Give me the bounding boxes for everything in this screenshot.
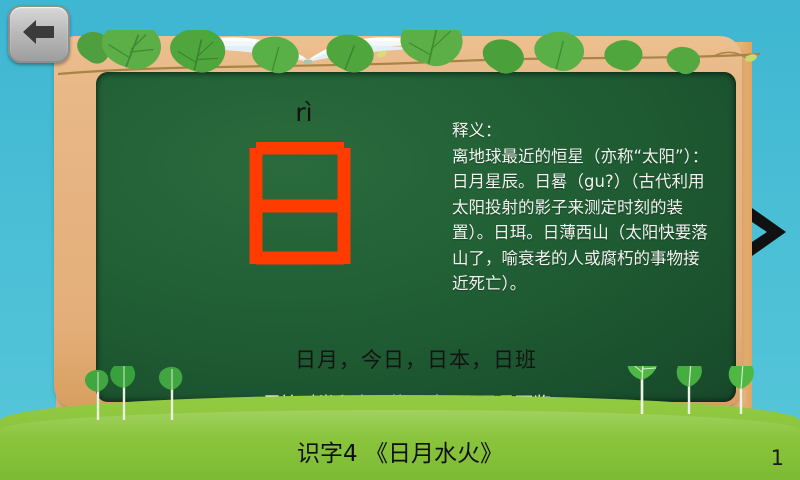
lesson-title: 识字4 《日月水火》 <box>0 434 800 468</box>
open-book-decoration <box>186 20 430 64</box>
chalkboard-surface: rì 释义：离地球最近的恒星（亦称“太阳”）：日月星辰。日晷（ <box>96 72 736 402</box>
page-number: 1 <box>771 446 784 470</box>
board-frame: rì 释义：离地球最近的恒星（亦称“太阳”）：日月星辰。日晷（ <box>54 36 742 408</box>
definition-heading: 释义： <box>452 121 502 140</box>
definition-body: 离地球最近的恒星（亦称“太阳”）：日月星辰。日晷（gu?）（古代利用太阳投射的影… <box>452 147 708 294</box>
arrow-left-icon <box>21 17 57 52</box>
lesson-screen: rì 释义：离地球最近的恒星（亦称“太阳”）：日月星辰。日晷（ <box>0 0 800 480</box>
word-examples: 日月，今日，日本，日班 <box>96 344 736 374</box>
chalkboard-assembly: rì 释义：离地球最近的恒星（亦称“太阳”）：日月星辰。日晷（ <box>36 22 748 418</box>
definition-block: 释义：离地球最近的恒星（亦称“太阳”）：日月星辰。日晷（gu?）（古代利用太阳投… <box>452 118 714 297</box>
next-page-button[interactable] <box>744 202 792 266</box>
back-button[interactable] <box>8 5 70 63</box>
chevron-right-icon <box>746 204 790 265</box>
character-glyph-ri <box>246 142 354 270</box>
pinyin-label: rì <box>244 100 364 125</box>
